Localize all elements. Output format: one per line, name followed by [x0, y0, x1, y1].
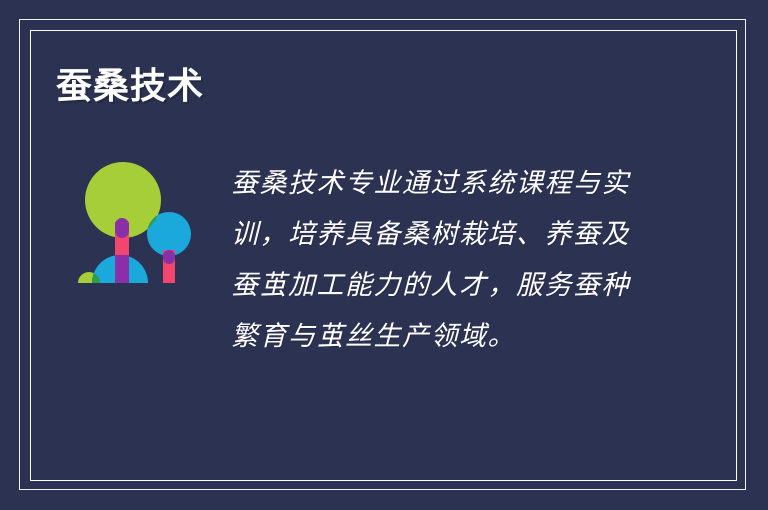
description-line: 繁育与茧丝生产领域。	[231, 311, 651, 362]
tree-illustration	[70, 150, 200, 290]
large-tree-trunk-icon	[115, 218, 129, 283]
description-line: 蚕茧加工能力的人才，服务蚕种	[231, 260, 651, 311]
page-title: 蚕桑技术	[56, 66, 204, 108]
description-text: 蚕桑技术专业通过系统课程与实 训，培养具备桑树栽培、养蚕及 蚕茧加工能力的人才，…	[231, 158, 651, 362]
small-tree-trunk-icon	[163, 250, 175, 283]
info-card: 蚕桑技术	[0, 0, 768, 510]
description-line: 蚕桑技术专业通过系统课程与实	[231, 158, 651, 209]
description-line: 训，培养具备桑树栽培、养蚕及	[231, 209, 651, 260]
